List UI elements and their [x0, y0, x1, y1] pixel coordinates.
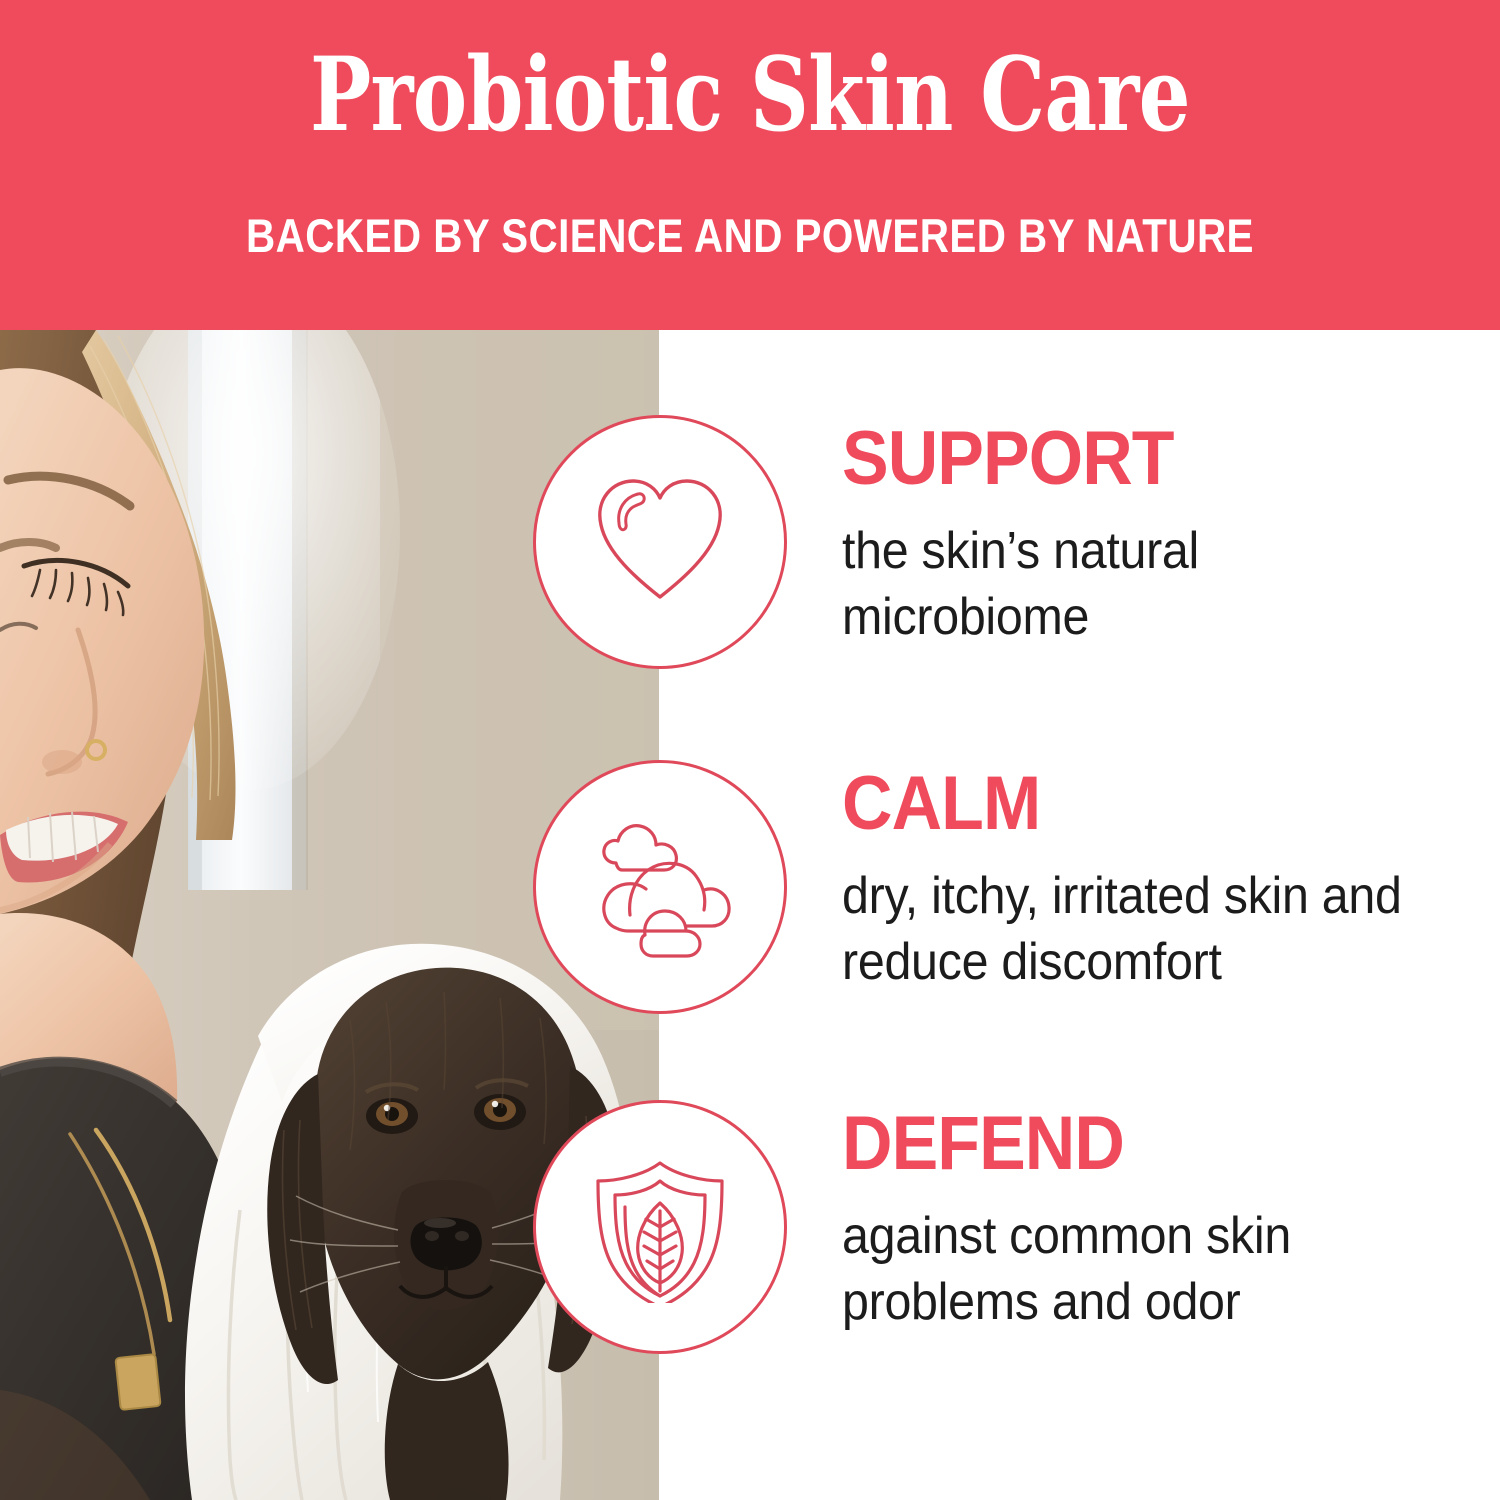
- benefit-heading: CALM: [842, 766, 1412, 842]
- benefit-text-calm: CALM dry, itchy, irritated skin and redu…: [842, 766, 1462, 995]
- shield-leaf-icon: [533, 1100, 787, 1354]
- benefit-body: the skin’s natural microbiome: [842, 519, 1419, 650]
- benefit-heading: DEFEND: [842, 1106, 1412, 1182]
- benefit-body: dry, itchy, irritated skin and reduce di…: [842, 864, 1419, 995]
- header-banner: Probiotic Skin Care BACKED BY SCIENCE AN…: [0, 0, 1500, 330]
- benefit-text-defend: DEFEND against common skin problems and …: [842, 1106, 1462, 1335]
- benefit-item-calm: CALM dry, itchy, irritated skin and redu…: [0, 760, 1500, 1100]
- benefits-list: SUPPORT the skin’s natural microbiome: [0, 330, 1500, 1500]
- benefit-body: against common skin problems and odor: [842, 1204, 1419, 1335]
- benefit-heading: SUPPORT: [842, 421, 1412, 497]
- benefit-text-support: SUPPORT the skin’s natural microbiome: [842, 421, 1462, 650]
- benefit-item-support: SUPPORT the skin’s natural microbiome: [0, 415, 1500, 755]
- page-subtitle: BACKED BY SCIENCE AND POWERED BY NATURE: [246, 208, 1254, 263]
- infographic-page: Probiotic Skin Care BACKED BY SCIENCE AN…: [0, 0, 1500, 1500]
- benefit-item-defend: DEFEND against common skin problems and …: [0, 1100, 1500, 1440]
- heart-icon: [533, 415, 787, 669]
- page-title: Probiotic Skin Care: [310, 44, 1190, 146]
- clouds-icon: [533, 760, 787, 1014]
